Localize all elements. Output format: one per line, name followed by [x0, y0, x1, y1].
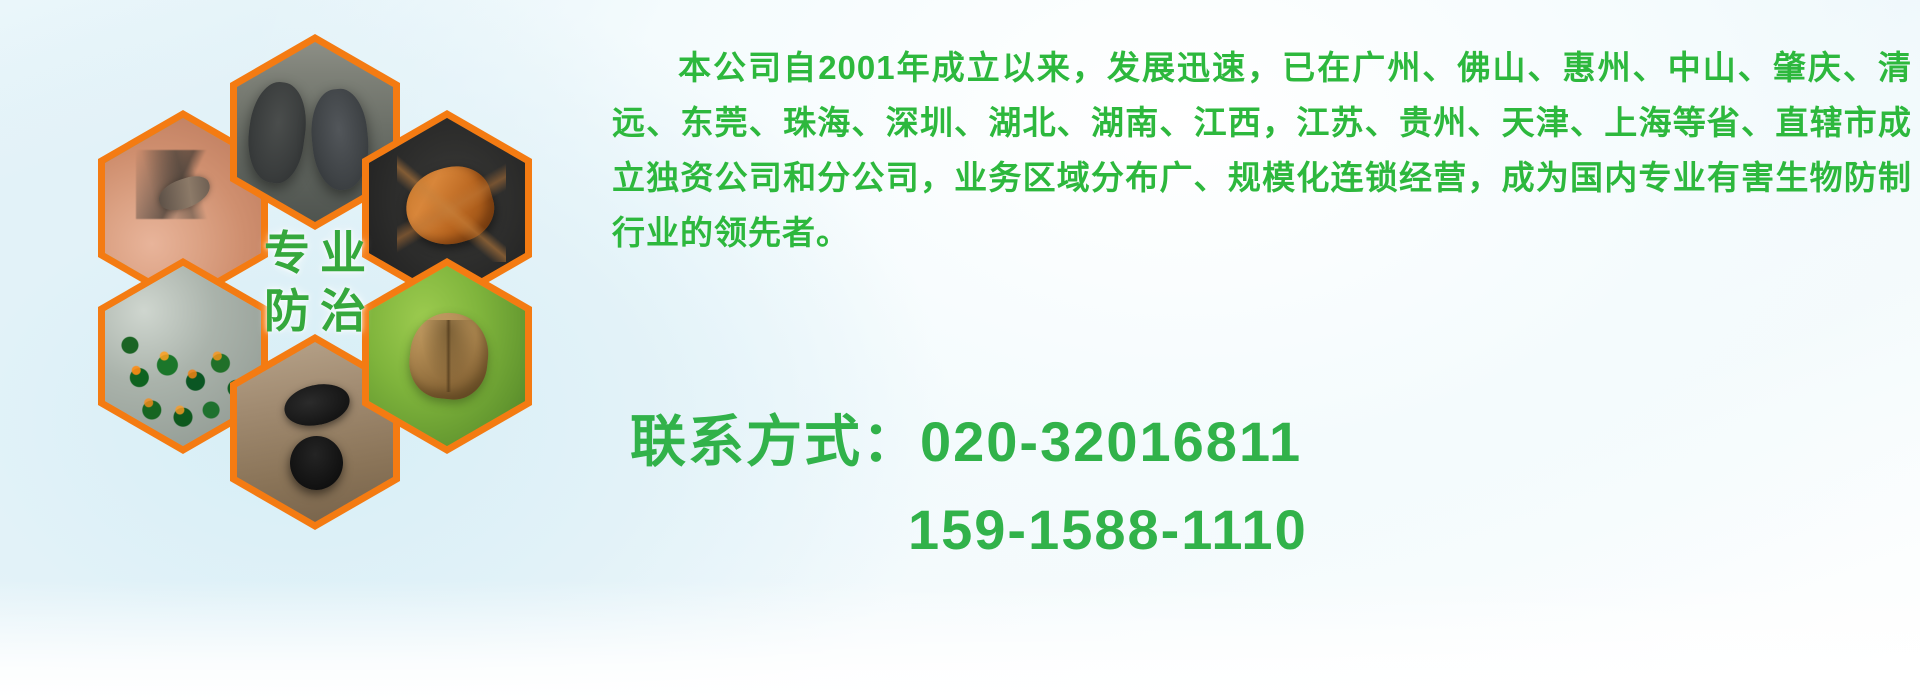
promo-banner: 专业 防治 本公司自2001年成立以来，发展迅速，已在广州、佛山、惠州、中山、肇… [0, 0, 1920, 700]
contact-secondary-line: 159-1588-1110 [620, 486, 1920, 574]
phone-secondary[interactable]: 159-1588-1110 [908, 498, 1308, 561]
hex-center-slogan: 专业 防治 [230, 184, 400, 380]
slogan-line-1: 专业 [254, 229, 376, 277]
contact-label: 联系方式： [630, 410, 920, 473]
company-intro-paragraph: 本公司自2001年成立以来，发展迅速，已在广州、佛山、惠州、中山、肇庆、清远、东… [612, 40, 1912, 260]
slogan-line-2: 防治 [254, 287, 376, 335]
contact-primary-line: 联系方式：020-32016811 [620, 398, 1920, 486]
contact-block: 联系方式：020-32016811 159-1588-1110 [620, 398, 1920, 574]
banner-content: 本公司自2001年成立以来，发展迅速，已在广州、佛山、惠州、中山、肇庆、清远、东… [600, 0, 1920, 700]
phone-primary[interactable]: 020-32016811 [920, 410, 1302, 473]
hexagon-photo-cluster: 专业 防治 [80, 10, 600, 570]
